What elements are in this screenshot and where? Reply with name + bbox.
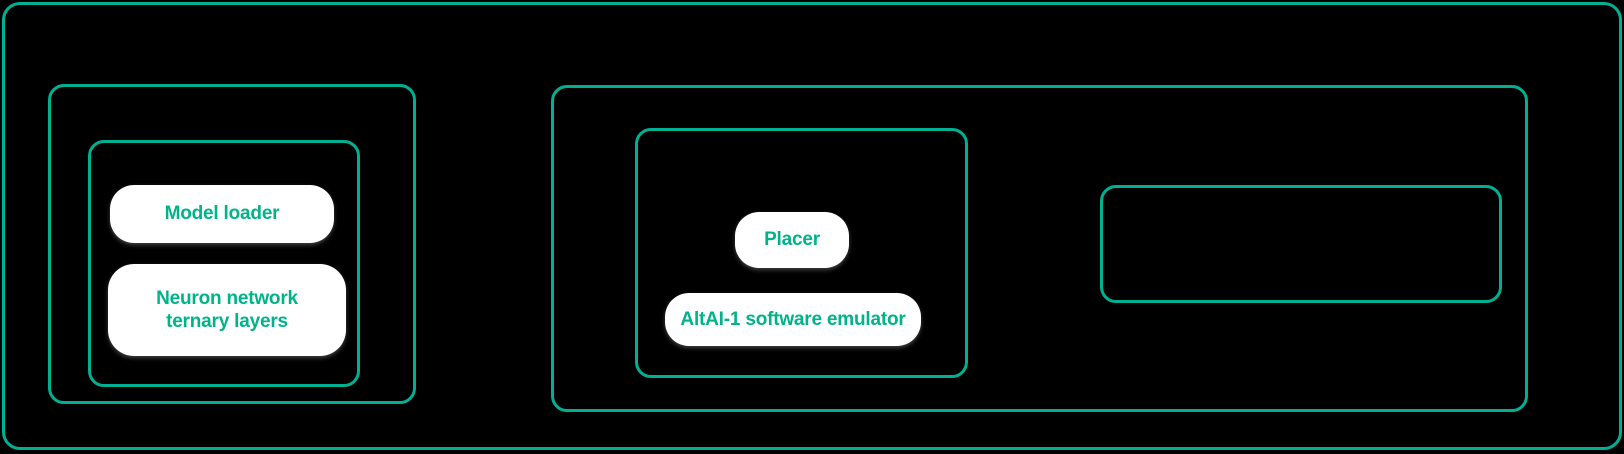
node-placer[interactable]: Placer: [735, 212, 849, 268]
diagram-root: Model loader Neuron network ternary laye…: [0, 0, 1624, 454]
node-altai-1-software-emulator[interactable]: AltAI-1 software emulator: [665, 293, 921, 346]
node-neuron-network-ternary-layers[interactable]: Neuron network ternary layers: [108, 264, 346, 356]
node-model-loader[interactable]: Model loader: [110, 185, 334, 243]
right-empty-group: [1100, 185, 1502, 303]
